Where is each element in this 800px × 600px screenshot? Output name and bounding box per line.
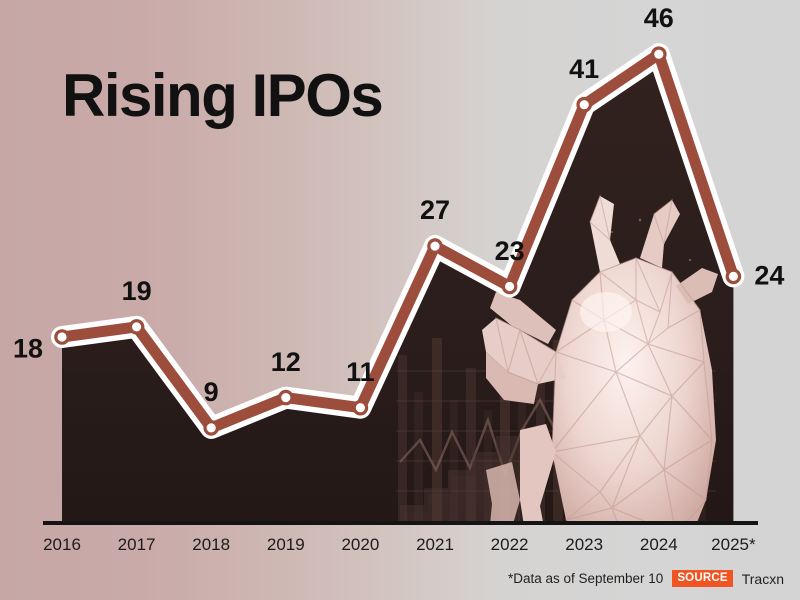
- data-point-marker: [130, 321, 142, 333]
- data-value-label: 12: [271, 349, 301, 376]
- data-point-marker: [653, 48, 665, 60]
- page-title: Rising IPOs: [62, 66, 382, 126]
- x-tick-2: 2018: [192, 536, 230, 553]
- footer: *Data as of September 10 SOURCE Tracxn: [508, 570, 784, 587]
- data-value-label: 18: [13, 336, 43, 363]
- data-point-marker: [354, 402, 366, 414]
- data-point-marker: [503, 280, 515, 292]
- x-tick-9: 2025*: [711, 536, 755, 553]
- data-value-label: 9: [204, 379, 219, 406]
- data-value-label: 27: [420, 197, 450, 224]
- infographic-canvas: Rising IPOs 1819912112723414624 20162017…: [0, 0, 800, 600]
- data-point-marker: [56, 331, 68, 343]
- data-value-label: 19: [122, 278, 152, 305]
- data-value-label: 41: [569, 56, 599, 83]
- data-point-marker: [280, 391, 292, 403]
- source-name: Tracxn: [742, 571, 784, 587]
- data-value-label: 11: [346, 359, 375, 386]
- x-tick-1: 2017: [118, 536, 156, 553]
- x-tick-5: 2021: [416, 536, 454, 553]
- data-point-marker: [429, 240, 441, 252]
- data-point-marker: [205, 422, 217, 434]
- x-axis-line: [43, 521, 758, 525]
- x-tick-7: 2023: [565, 536, 603, 553]
- data-point-marker: [727, 270, 739, 282]
- footnote-text: *Data as of September 10: [508, 571, 663, 586]
- source-badge: SOURCE: [672, 570, 732, 587]
- x-tick-0: 2016: [43, 536, 81, 553]
- data-value-label: 23: [495, 238, 525, 265]
- data-value-label: 46: [644, 5, 674, 32]
- x-tick-8: 2024: [640, 536, 678, 553]
- data-value-label: 24: [754, 263, 784, 290]
- x-tick-6: 2022: [491, 536, 529, 553]
- x-tick-4: 2020: [341, 536, 379, 553]
- data-point-marker: [578, 99, 590, 111]
- x-tick-3: 2019: [267, 536, 305, 553]
